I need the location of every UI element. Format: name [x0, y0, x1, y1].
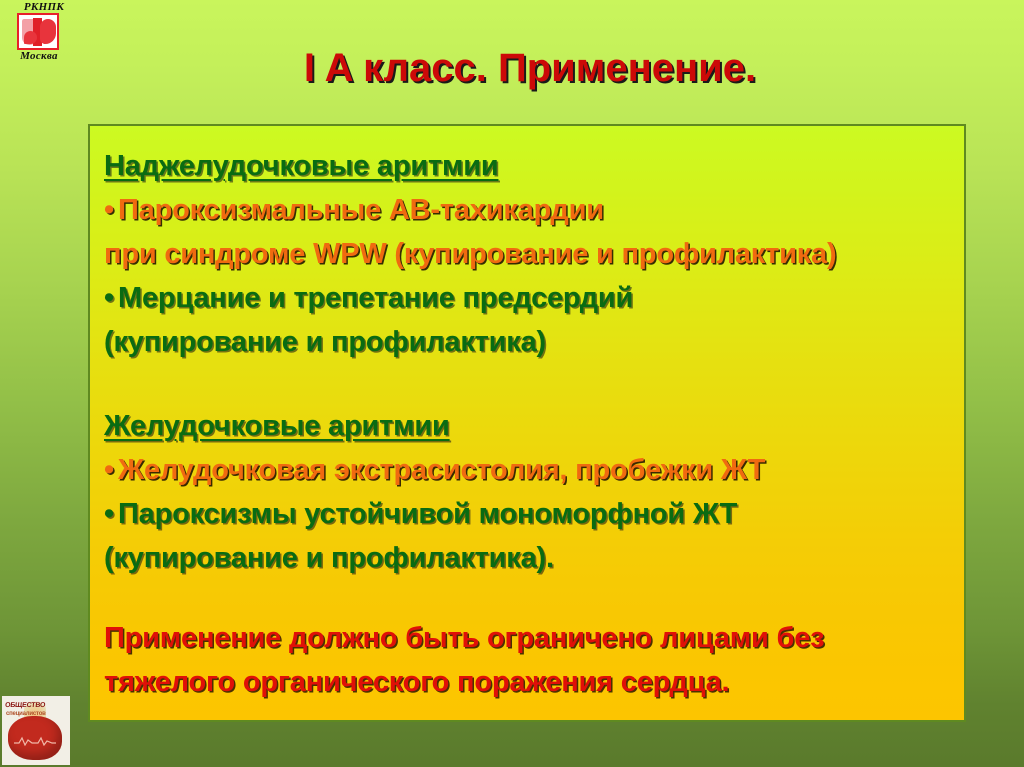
list-item-text: Пароксизмальные АВ-тахикардии — [118, 194, 604, 226]
presentation-slide: РКНПК Москва I A класс. Применение. Надж… — [0, 0, 1024, 767]
list-item: •Пароксизмальные АВ-тахикардии — [104, 188, 950, 232]
slide-title: I A класс. Применение. — [90, 46, 970, 91]
list-item: •Мерцание и трепетание предсердий — [104, 276, 950, 320]
list-item-continuation: при синдроме WPW (купирование и профилак… — [104, 232, 950, 276]
heart-shape-lobe — [24, 31, 37, 44]
rknpk-logo-name-top: РКНПК — [6, 1, 70, 13]
content-panel: Наджелудочковые аритмии •Пароксизмальные… — [88, 124, 966, 722]
section-heading-ventricular: Желудочковые аритмии — [104, 404, 950, 448]
footer-spacer — [104, 580, 950, 616]
heart-shape-main — [40, 19, 56, 44]
section-spacer — [104, 364, 950, 404]
list-item: •Желудочковая экстрасистолия, пробежки Ж… — [104, 448, 950, 492]
rknpk-logo: РКНПК Москва — [6, 1, 70, 63]
list-item-text: при синдроме WPW (купирование и профилак… — [104, 238, 836, 270]
bullet-icon: • — [104, 492, 118, 536]
ecg-line-icon — [14, 736, 56, 746]
list-item-text: Пароксизмы устойчивой мономорфной ЖТ — [118, 498, 737, 530]
rknpk-logo-mark — [17, 13, 59, 50]
list-item-continuation: (купирование и профилактика). — [104, 536, 950, 580]
list-item: •Пароксизмы устойчивой мономорфной ЖТ — [104, 492, 950, 536]
list-item-text: Желудочковая экстрасистолия, пробежки ЖТ — [118, 454, 765, 486]
list-item-text: (купирование и профилактика) — [104, 326, 546, 358]
list-item-text: (купирование и профилактика). — [104, 542, 554, 574]
section-heading-supraventricular: Наджелудочковые аритмии — [104, 144, 950, 188]
bullet-icon: • — [104, 448, 118, 492]
bullet-icon: • — [104, 276, 118, 320]
list-item-continuation: (купирование и профилактика) — [104, 320, 950, 364]
footer-warning-line-2: тяжелого органического поражения сердца. — [104, 660, 950, 704]
rknpk-logo-name-bottom: Москва — [6, 50, 70, 62]
society-logo: ОБЩЕСТВО специалистов — [2, 696, 70, 765]
list-item-text: Мерцание и трепетание предсердий — [118, 282, 633, 314]
society-logo-ring-text: ОБЩЕСТВО — [5, 702, 68, 709]
bullet-icon: • — [104, 188, 118, 232]
footer-warning-line-1: Применение должно быть ограничено лицами… — [104, 616, 950, 660]
